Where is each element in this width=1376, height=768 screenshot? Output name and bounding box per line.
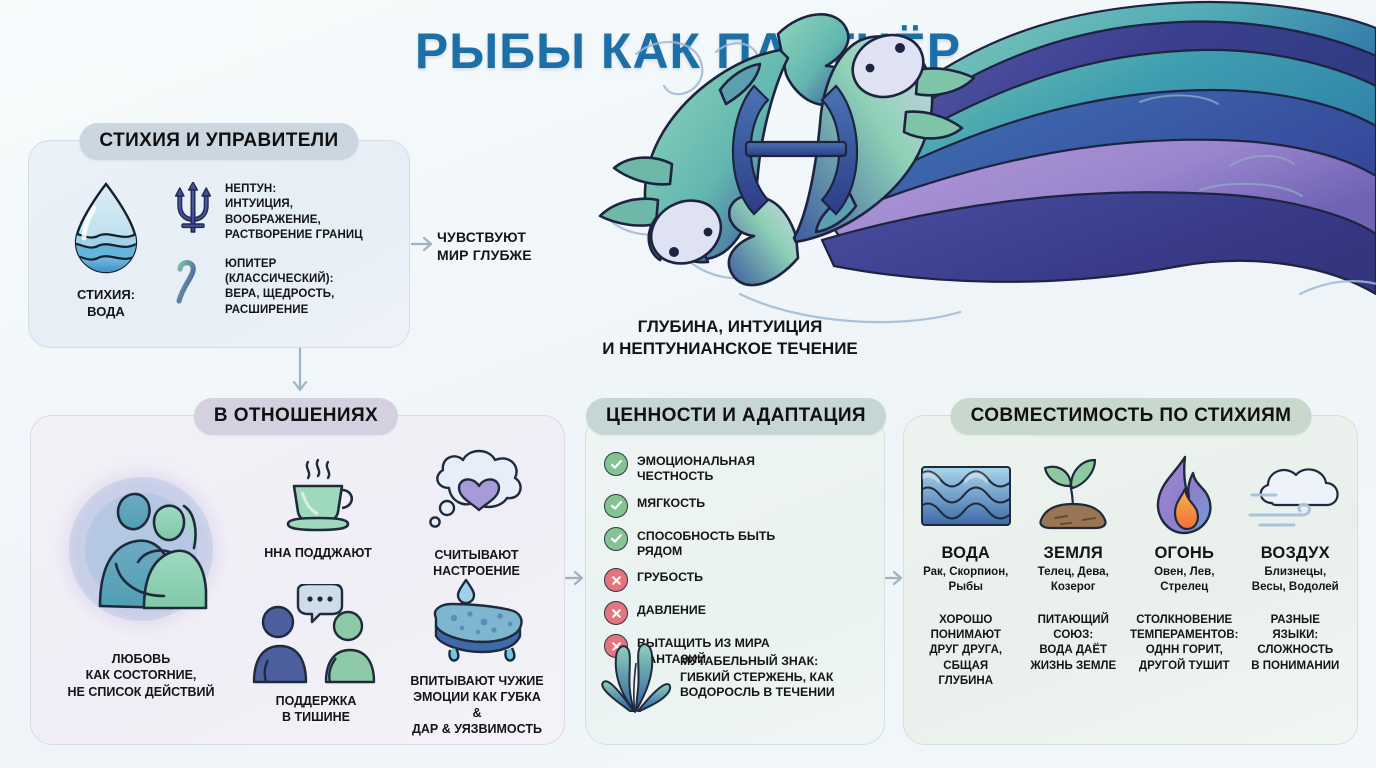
relationships-hero-caption: ЛЮБОВЬ КАК СОСТОRНИЕ, НЕ СПИСОК ДЕЙСТВИЙ bbox=[45, 651, 237, 700]
water-waves-icon bbox=[920, 450, 1012, 542]
sprout-soil-icon bbox=[1027, 450, 1119, 542]
seaweed-icon bbox=[600, 635, 672, 720]
mutable-line-3: ВОДОРОСЛЬ В ТЕЧЕНИИ bbox=[680, 685, 835, 701]
panel-compat-header: СОВМЕСТИМОСТЬ ПО СТИХИЯМ bbox=[951, 398, 1312, 435]
value-line: ДАВЛЕНИЕ bbox=[637, 603, 706, 618]
ruler-jupiter: ЮПИТЕР (КЛАССИЧЕСКИЙ): ВЕРА, ЩЕДРОСТЬ, Р… bbox=[171, 257, 395, 318]
infographic-canvas: РЫБЫ КАК ПАРТНЁР bbox=[0, 0, 1376, 768]
ruler-jupiter-line-1: (КЛАССИЧЕСКИЙ): bbox=[225, 272, 334, 287]
water-drop-icon bbox=[70, 180, 142, 281]
hero-cap-line-2: КАК СОСТОRНИЕ, bbox=[45, 667, 237, 683]
mutable-line-2: ГИБКИЙ СТЕРЖЕНЬ, КАК bbox=[680, 670, 835, 686]
embracing-couple-icon bbox=[45, 456, 237, 647]
check-icon bbox=[604, 452, 628, 476]
relationships-cell-sponge: ВПИТЫВАЮТ ЧУЖИЕ ЭМОЦИИ КАК ГУБКА & ДАР &… bbox=[396, 578, 558, 737]
note-line: ДРУГ ДРУГА, bbox=[929, 643, 1002, 658]
note-line: ДРУГОЙ ТУШИТ bbox=[1130, 659, 1239, 674]
mutable-sign-block: МУТАБЕЛЬНЫЙ ЗНАК: ГИБКИЙ СТЕРЖЕНЬ, КАК В… bbox=[600, 635, 872, 720]
compat-note: РАЗНЫЕ ЯЗЫКИ: СЛОЖНОСТЬ В ПОНИМАНИИ bbox=[1251, 613, 1339, 674]
value-line: РЯДОМ bbox=[637, 544, 775, 559]
compat-signs: Близнецы, Весы, Водолей bbox=[1252, 565, 1339, 595]
feel-deeper-line-2: МИР ГЛУБЖЕ bbox=[437, 246, 532, 264]
teacup-cap-line-1: ННА ПОДДЖАЮТ bbox=[243, 545, 393, 561]
neptune-trident-icon bbox=[171, 182, 215, 236]
note-line: СТОЛКНОВЕНИЕ bbox=[1130, 613, 1239, 628]
relationships-cell-silence: ПОДДЕРЖКА В ТИШИНЕ bbox=[236, 584, 396, 725]
feel-deeper-label: ЧУВСТВУЮТ МИР ГЛУБЖЕ bbox=[437, 228, 532, 264]
compat-column-water: ВОДА Рак, Скорпион, Рыбы ХОРОШО ПОНИМАЮТ… bbox=[912, 450, 1019, 730]
sign-line: Телец, Дева, bbox=[1038, 565, 1109, 580]
compat-column-earth: ЗЕМЛЯ Телец, Дева, Козерог ПИТАЮЩИЙ СОЮЗ… bbox=[1019, 450, 1126, 730]
compat-name: ЗЕМЛЯ bbox=[1043, 544, 1103, 563]
hero-cap-line-1: ЛЮБОВЬ bbox=[45, 651, 237, 667]
note-line: ПИТАЮЩИЙ bbox=[1030, 613, 1116, 628]
jupiter-glyph-icon bbox=[171, 257, 215, 311]
ruler-jupiter-line-3: РАСШИРЕНИЕ bbox=[225, 303, 334, 318]
relationships-cell-mood: СЧИТЫВАЮТ НАСТРОЕНИЕ bbox=[399, 446, 554, 579]
compat-column-fire: ОГОНЬ Овен, Лев, Стрелец СТОЛКНОВЕНИЕ ТЕ… bbox=[1127, 450, 1242, 730]
ruler-neptune-line-1: ИНТУИЦИЯ, bbox=[225, 197, 363, 212]
relationships-cell-silence-caption: ПОДДЕРЖКА В ТИШИНЕ bbox=[236, 693, 396, 725]
relationships-cell-teacup: ННА ПОДДЖАЮТ bbox=[243, 458, 393, 561]
compat-note: ПИТАЮЩИЙ СОЮЗ: ВОДА ДАЁТ ЖИЗНЬ ЗЕМЛЕ bbox=[1030, 613, 1116, 674]
hero-caption-line-2: И НЕПТУНИАНСКОЕ ТЕЧЕНИЕ bbox=[560, 338, 900, 360]
note-line: ХОРОШО bbox=[929, 613, 1002, 628]
note-line: ВОДА ДАЁТ bbox=[1030, 643, 1116, 658]
panel-relationships: В ОТНОШЕНИЯХ bbox=[30, 415, 565, 745]
ruler-neptune-line-2: ВООБРАЖЕНИЕ, bbox=[225, 213, 363, 228]
sponge-cap-line-2: ЭМОЦИИ КАК ГУБКА bbox=[396, 689, 558, 705]
pisces-glyph bbox=[733, 86, 857, 214]
feel-deeper-line-1: ЧУВСТВУЮТ bbox=[437, 228, 532, 246]
hero-cap-line-3: НЕ СПИСОК ДЕЙСТВИЙ bbox=[45, 684, 237, 700]
compat-name: ВОДА bbox=[941, 544, 990, 563]
compat-signs: Телец, Дева, Козерог bbox=[1038, 565, 1109, 595]
sponge-drip-icon bbox=[396, 578, 558, 669]
relationships-cell-teacup-caption: ННА ПОДДЖАЮТ bbox=[243, 545, 393, 561]
hero-caption-line-1: ГЛУБИНА, ИНТУИЦИЯ bbox=[560, 316, 900, 338]
cross-icon bbox=[604, 601, 628, 625]
compat-column-air: ВОЗДУХ Близнецы, Весы, Водолей РАЗНЫЕ ЯЗ… bbox=[1242, 450, 1349, 730]
compat-note: СТОЛКНОВЕНИЕ ТЕМПЕРАМЕНТОВ: ОДНН ГОРИТ, … bbox=[1130, 613, 1239, 674]
panel-values-and-adaptation: ЦЕННОСТИ И АДАПТАЦИЯ ЭМОЦИОНАЛЬНАЯ ЧЕСТН… bbox=[585, 415, 885, 745]
panel-element-compatibility: СОВМЕСТИМОСТЬ ПО СТИХИЯМ bbox=[903, 415, 1358, 745]
note-line: РАЗНЫЕ bbox=[1251, 613, 1339, 628]
ruler-jupiter-name: ЮПИТЕР bbox=[225, 257, 334, 272]
element-label-line-2: ВОДА bbox=[77, 304, 135, 320]
check-icon bbox=[604, 494, 628, 518]
panel-element-header: СТИХИЯ И УПРАВИТЕЛИ bbox=[79, 123, 358, 160]
wind-cloud-icon bbox=[1246, 450, 1344, 542]
teacup-icon bbox=[243, 458, 393, 541]
sign-line: Козерог bbox=[1038, 580, 1109, 595]
note-line: ЖИЗНЬ ЗЕМЛЕ bbox=[1030, 659, 1116, 674]
thought-cloud-heart-icon bbox=[399, 446, 554, 543]
note-line: СБЩАЯ bbox=[929, 659, 1002, 674]
value-row: ЭМОЦИОНАЛЬНАЯ ЧЕСТНОСТЬ bbox=[604, 452, 870, 485]
value-row: МЯГКОСТЬ bbox=[604, 494, 870, 518]
element-label-line-1: СТИХИЯ: bbox=[77, 287, 135, 303]
panel-element-and-rulers: СТИХИЯ И УПРАВИТЕЛИ bbox=[28, 140, 410, 348]
mood-cap-line-1: СЧИТЫВАЮТ bbox=[399, 547, 554, 563]
value-line: МЯГКОСТЬ bbox=[637, 496, 705, 511]
ruler-neptune-line-3: РАСТВОРЕНИЕ ГРАНИЦ bbox=[225, 228, 363, 243]
value-line: СПОСОБНОСТЬ БЫТЬ bbox=[637, 529, 775, 544]
mutable-line-1: МУТАБЕЛЬНЫЙ ЗНАК: bbox=[680, 654, 835, 670]
two-people-speech-icon bbox=[236, 584, 396, 689]
two-fish-icon bbox=[540, 0, 1376, 334]
value-line: ГРУБОСТЬ bbox=[637, 570, 703, 585]
hero-caption: ГЛУБИНА, ИНТУИЦИЯ И НЕПТУНИАНСКОЕ ТЕЧЕНИ… bbox=[560, 316, 900, 360]
cross-icon bbox=[604, 568, 628, 592]
water-element-block: СТИХИЯ: ВОДА bbox=[43, 163, 169, 337]
value-row: СПОСОБНОСТЬ БЫТЬ РЯДОМ bbox=[604, 527, 870, 560]
sign-line: Стрелец bbox=[1154, 580, 1214, 595]
compat-signs: Овен, Лев, Стрелец bbox=[1154, 565, 1214, 595]
check-icon bbox=[604, 527, 628, 551]
silence-cap-line-1: ПОДДЕРЖКА bbox=[236, 693, 396, 709]
ruler-jupiter-line-2: ВЕРА, ЩЕДРОСТЬ, bbox=[225, 287, 334, 302]
compat-name: ВОЗДУХ bbox=[1261, 544, 1330, 563]
note-line: ПОНИМАЮТ bbox=[929, 628, 1002, 643]
flame-icon bbox=[1145, 450, 1223, 542]
sponge-cap-line-1: ВПИТЫВАЮТ ЧУЖИЕ bbox=[396, 673, 558, 689]
sponge-cap-line-3: & bbox=[396, 705, 558, 721]
note-line: СОЮЗ: bbox=[1030, 628, 1116, 643]
value-line: ЧЕСТНОСТЬ bbox=[637, 469, 755, 484]
panel-values-header: ЦЕННОСТИ И АДАПТАЦИЯ bbox=[586, 398, 886, 435]
value-line: ЭМОЦИОНАЛЬНАЯ bbox=[637, 454, 755, 469]
mood-cap-line-2: НАСТРОЕНИЕ bbox=[399, 563, 554, 579]
relationships-hero: ЛЮБОВЬ КАК СОСТОRНИЕ, НЕ СПИСОК ДЕЙСТВИЙ bbox=[45, 456, 237, 700]
compat-signs: Рак, Скорпион, Рыбы bbox=[923, 565, 1008, 595]
note-line: СЛОЖНОСТЬ bbox=[1251, 643, 1339, 658]
sign-line: Овен, Лев, bbox=[1154, 565, 1214, 580]
note-line: ОДНН ГОРИТ, bbox=[1130, 643, 1239, 658]
note-line: В ПОНИМАНИИ bbox=[1251, 659, 1339, 674]
sign-line: Рыбы bbox=[923, 580, 1008, 595]
relationships-cell-mood-caption: СЧИТЫВАЮТ НАСТРОЕНИЕ bbox=[399, 547, 554, 579]
sign-line: Рак, Скорпион, bbox=[923, 565, 1008, 580]
compat-note: ХОРОШО ПОНИМАЮТ ДРУГ ДРУГА, СБЩАЯ ГЛУБИН… bbox=[929, 613, 1002, 689]
note-line: ГЛУБИНА bbox=[929, 674, 1002, 689]
ruler-neptune: НЕПТУН: ИНТУИЦИЯ, ВООБРАЖЕНИЕ, РАСТВОРЕН… bbox=[171, 182, 395, 243]
compat-name: ОГОНЬ bbox=[1154, 544, 1214, 563]
element-label: СТИХИЯ: ВОДА bbox=[77, 287, 135, 320]
value-row: ДАВЛЕНИЕ bbox=[604, 601, 870, 625]
note-line: ЯЗЫКИ: bbox=[1251, 628, 1339, 643]
value-row: ГРУБОСТЬ bbox=[604, 568, 870, 592]
relationships-cell-sponge-caption: ВПИТЫВАЮТ ЧУЖИЕ ЭМОЦИИ КАК ГУБКА & ДАР &… bbox=[396, 673, 558, 737]
note-line: ТЕМПЕРАМЕНТОВ: bbox=[1130, 628, 1239, 643]
mutable-sign-text: МУТАБЕЛЬНЫЙ ЗНАК: ГИБКИЙ СТЕРЖЕНЬ, КАК В… bbox=[680, 654, 835, 702]
sponge-cap-line-4: ДАР & УЯЗВИМОСТЬ bbox=[396, 721, 558, 737]
sign-line: Близнецы, bbox=[1252, 565, 1339, 580]
ruler-neptune-name: НЕПТУН: bbox=[225, 182, 363, 197]
sign-line: Весы, Водолей bbox=[1252, 580, 1339, 595]
silence-cap-line-2: В ТИШИНЕ bbox=[236, 709, 396, 725]
